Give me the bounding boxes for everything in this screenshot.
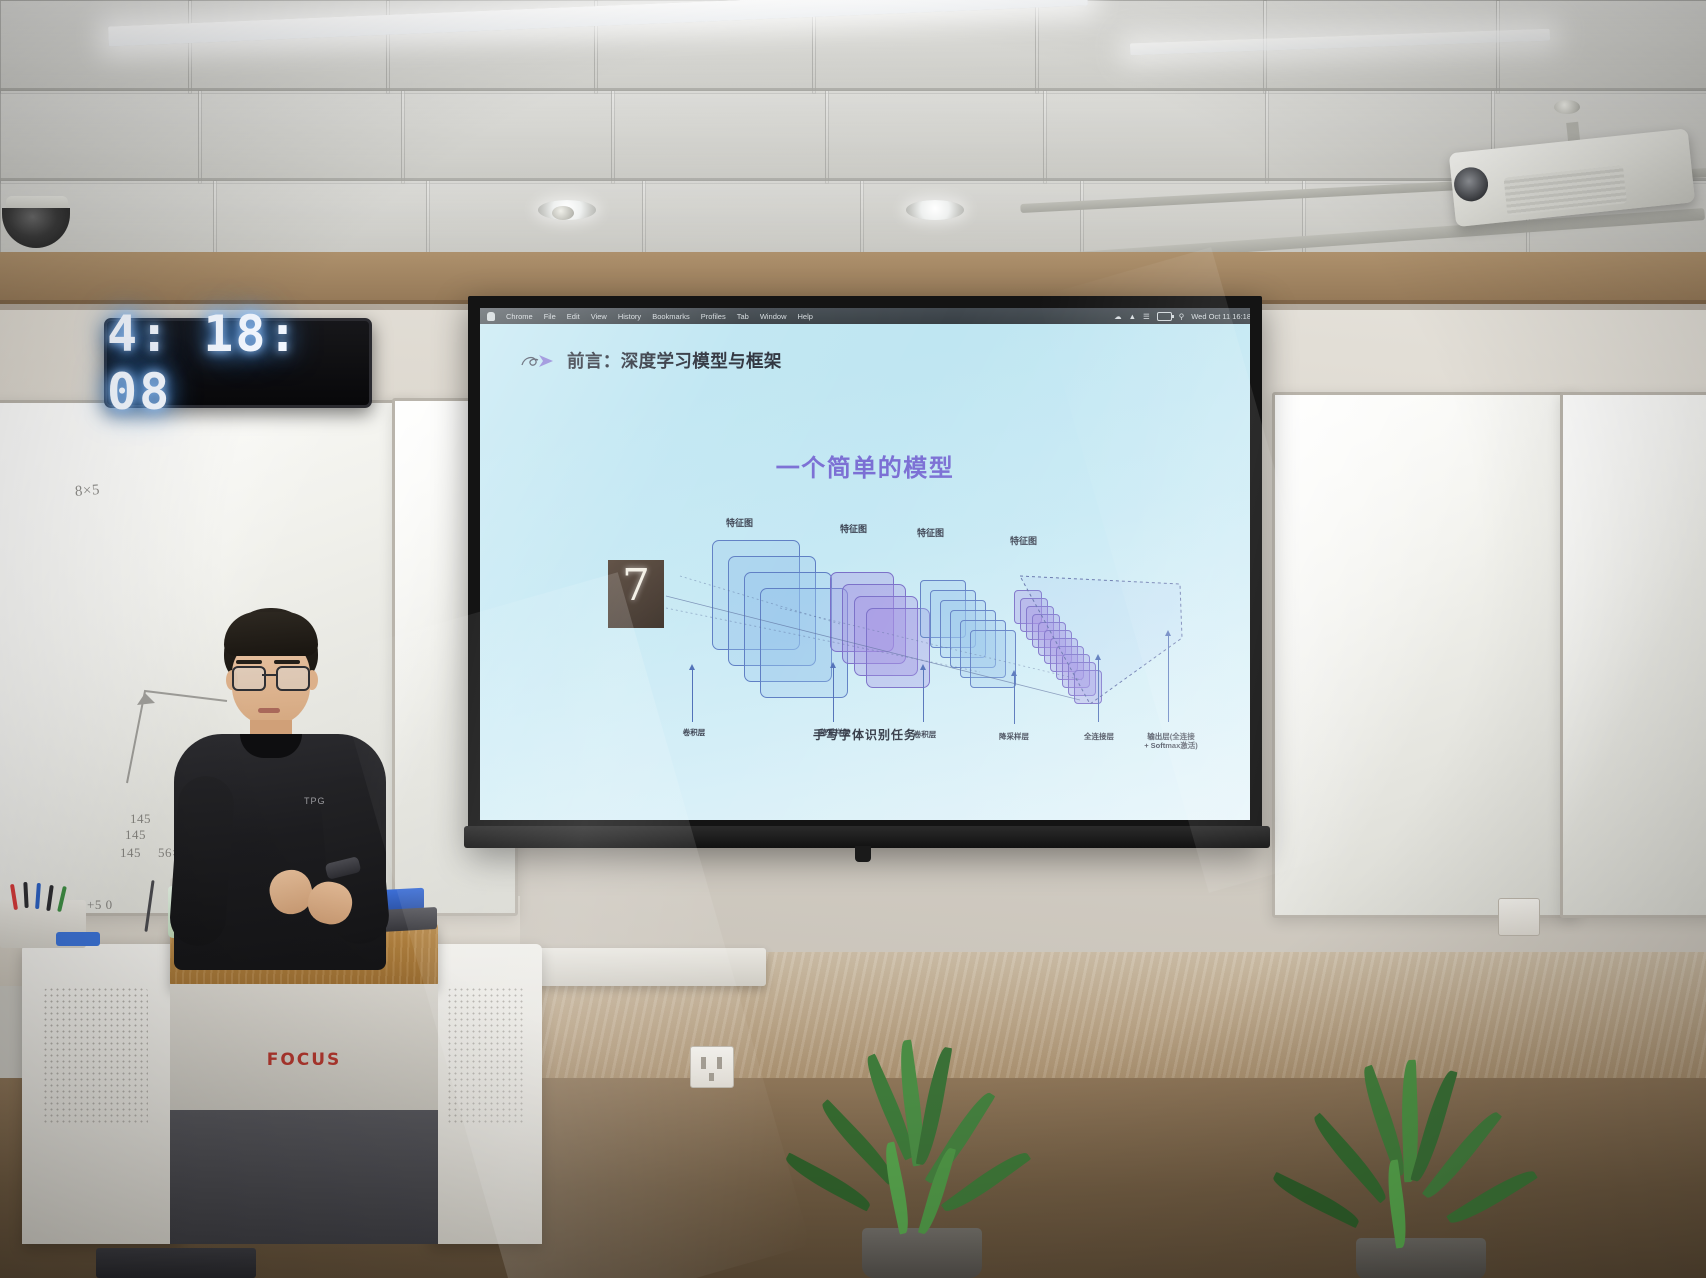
projected-slide: Chrome File Edit View History Bookmarks … [480,308,1250,820]
lectern-podium: FOCUS [22,922,522,1278]
projection-screen-bottom-bar [464,826,1270,848]
blue-marker-box [56,932,100,946]
tshirt-logo: TPG [304,796,326,806]
side-bench [508,948,766,986]
screen-pull-knob[interactable] [855,846,871,862]
wall-power-outlet-right[interactable] [1498,898,1540,936]
podium-base [96,1248,256,1278]
pen-tray [0,900,86,948]
podium-speaker-grille [44,988,148,1126]
dome-security-camera [0,196,74,258]
presenter: TPG [166,608,394,968]
smoke-detector-icon [552,206,574,220]
podium-brand-label: FOCUS [170,1050,438,1070]
slide-caption: 手写字体识别任务 [480,726,1250,743]
smoke-detector-icon [1554,100,1580,114]
podium-speaker-grille [448,988,524,1124]
lecture-hall-scene: 8×5 145 145 145 56× +5 0 4: 18: 08 Chrom… [0,0,1706,1278]
digital-countdown-clock: 4: 18: 08 [104,318,372,408]
clock-display: 4: 18: 08 [107,305,369,421]
cnn-architecture-diagram: 特征图 特征图 特征图 特征图 7 [480,308,1250,820]
wall-power-outlet[interactable] [690,1046,734,1088]
whiteboard-far-right [1560,392,1706,918]
podium-right-wing [430,944,542,1244]
downlight [906,200,964,220]
presenter-mouth [258,708,280,713]
presenter-brow-left [236,660,262,664]
presenter-arm-left [168,774,236,947]
dracaena-plant-left [776,1038,1076,1278]
podium-left-wing [22,944,182,1244]
presenter-brow-right [274,660,300,664]
whiteboard-right [1272,392,1578,918]
eyeglasses-left-lens [232,666,266,691]
dracaena-plant-right [1258,1060,1578,1278]
podium-front-panel: FOCUS [170,984,438,1110]
podium-lower-body [170,1110,438,1244]
eyeglasses-bridge [262,674,276,676]
eyeglasses-right-lens [276,666,310,691]
presenter-fringe [224,612,318,656]
